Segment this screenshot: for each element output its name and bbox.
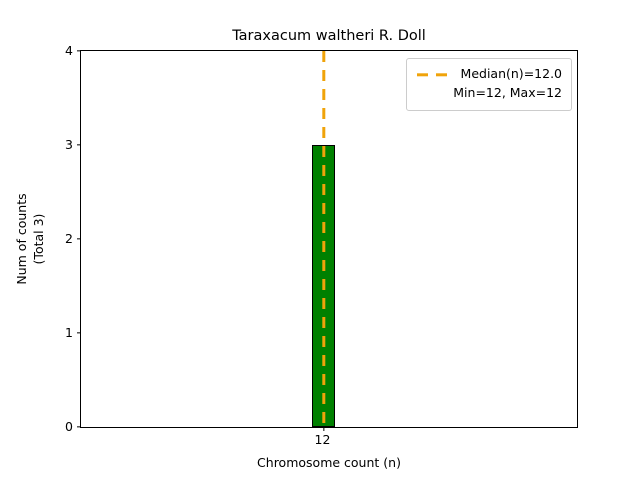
legend-label-median: Median(n)=12.0 [461,68,562,81]
legend-label-minmax: Min=12, Max=12 [453,87,562,100]
legend-item-minmax: Min=12, Max=12 [416,84,562,103]
chart-figure: Taraxacum waltheri R. Doll Num of counts… [0,0,640,480]
median-line [322,51,325,427]
y-tick-mark-4 [77,50,81,51]
chart-title: Taraxacum waltheri R. Doll [80,28,578,44]
dashed-line-icon [416,65,452,84]
y-axis-label-line1: Num of counts [14,193,29,284]
legend[interactable]: Median(n)=12.0 Min=12, Max=12 [406,58,572,111]
y-tick-label-0: 0 [39,421,73,434]
y-tick-mark-1 [77,332,81,333]
y-tick-mark-2 [77,238,81,239]
legend-item-median: Median(n)=12.0 [416,65,562,84]
y-tick-label-1: 1 [39,327,73,340]
y-tick-label-4: 4 [39,45,73,58]
plot-area: 0 1 2 3 4 Median(n)=12.0 Min=12, Max=12 [80,50,578,428]
x-tick-mark-12 [323,427,324,431]
y-tick-label-3: 3 [39,139,73,152]
y-tick-label-2: 2 [39,233,73,246]
x-axis-label: Chromosome count (n) [80,455,578,470]
y-tick-mark-0 [77,426,81,427]
y-tick-mark-3 [77,144,81,145]
x-tick-label-12: 12 [315,434,331,447]
